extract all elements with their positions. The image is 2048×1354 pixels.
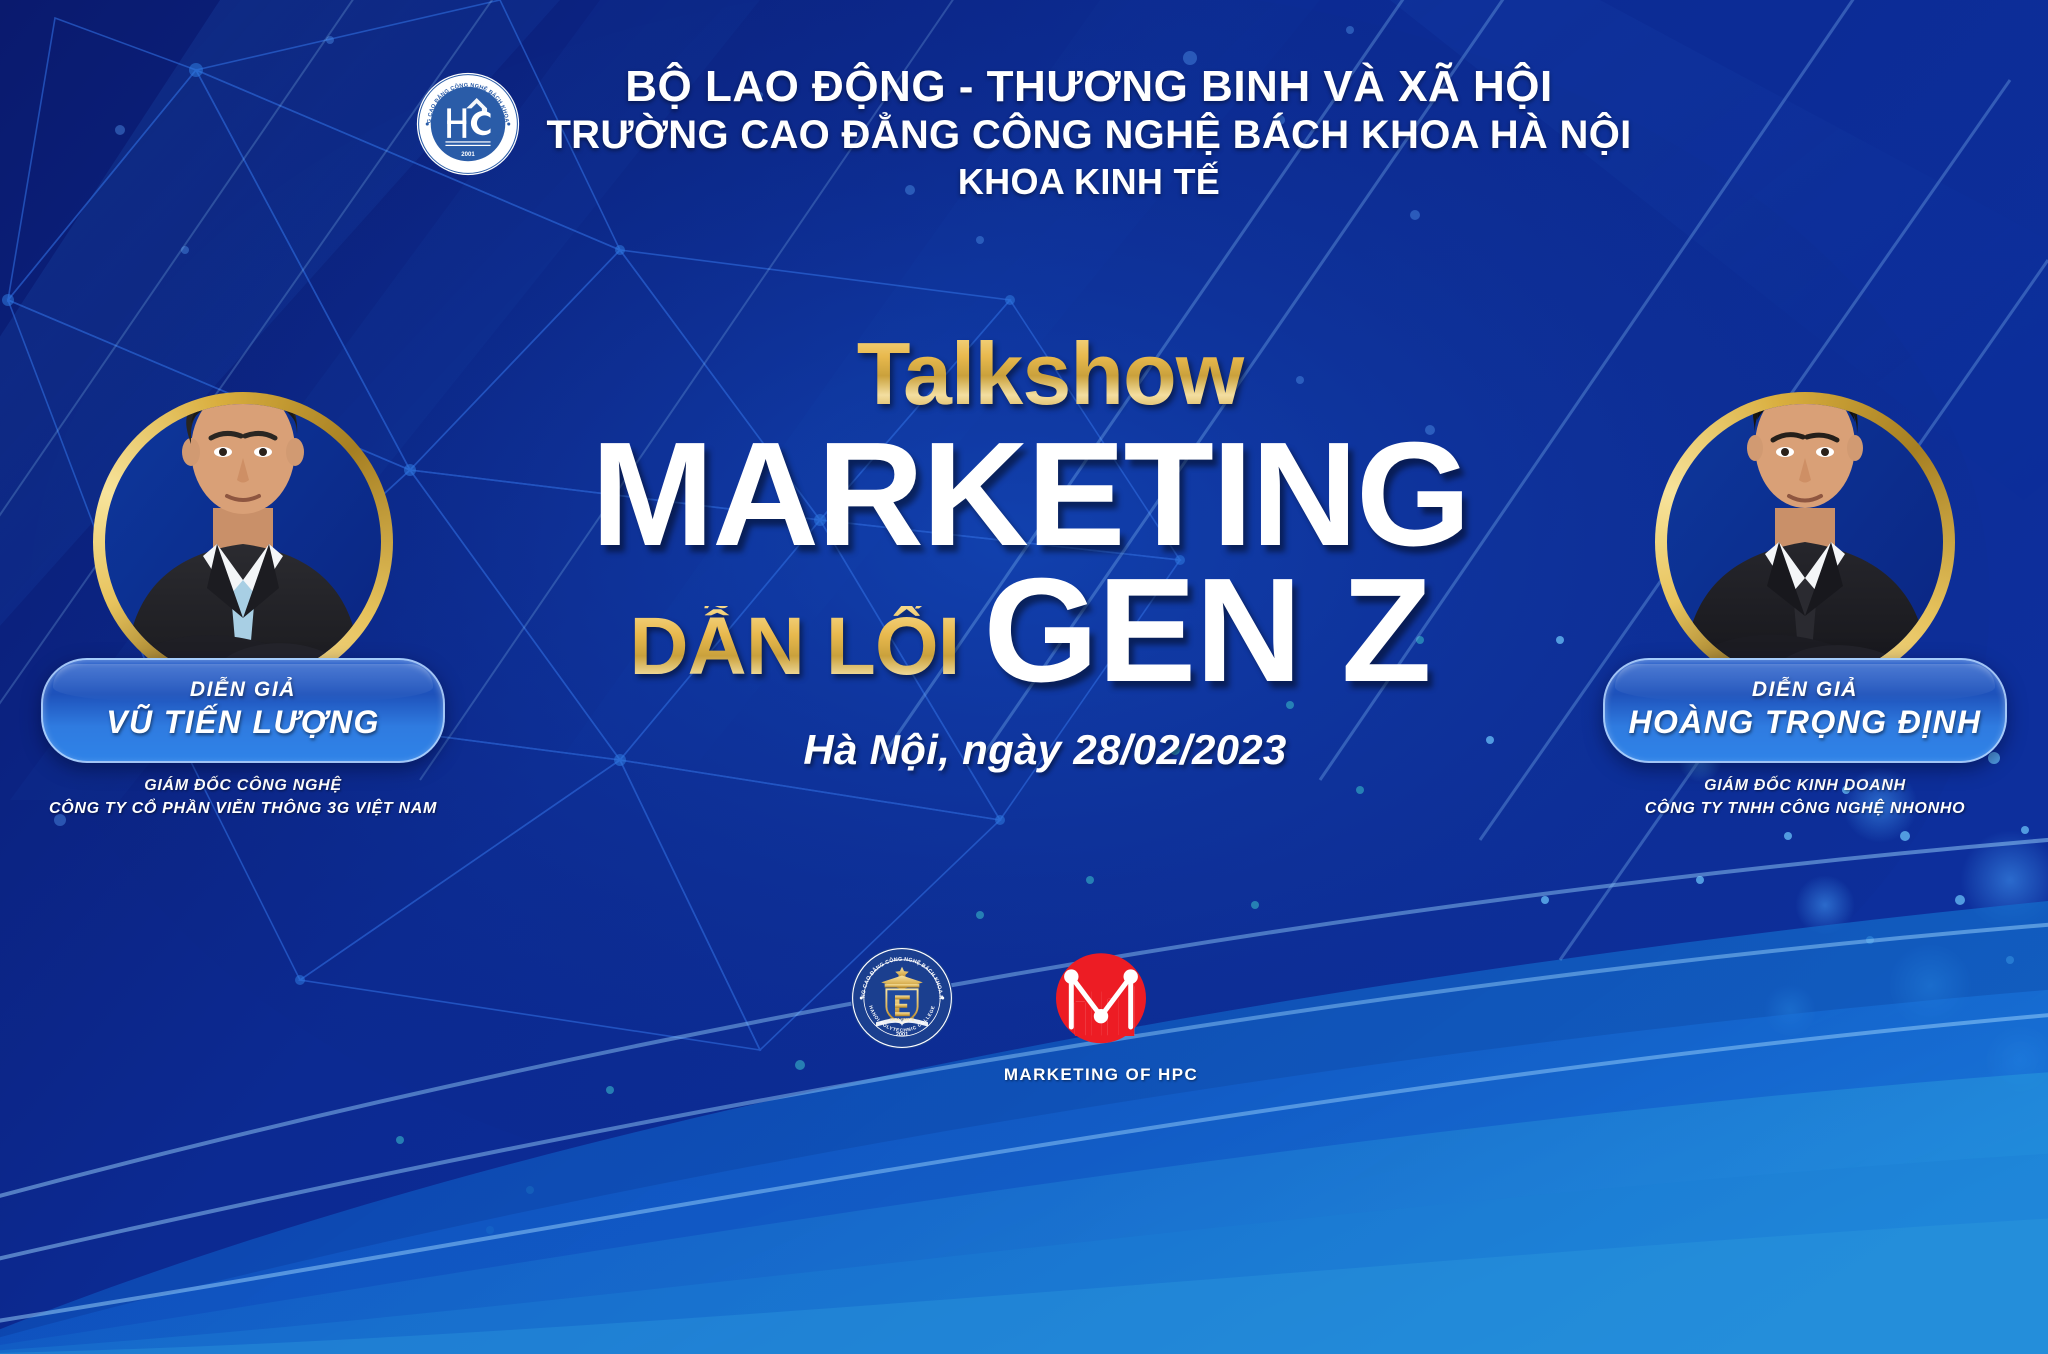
speaker-role-label: DIỄN GIẢ (55, 677, 431, 703)
speaker-role-label: DIỄN GIẢ (1617, 677, 1993, 703)
title-main-line2-white: GEN Z (983, 560, 1430, 702)
faculty-economics-seal-icon: TRƯỜNG CAO ĐẲNG CÔNG NGHỆ BÁCH KHOA HÀ N… (850, 946, 954, 1050)
title-kicker: Talkshow (560, 330, 1540, 418)
speaker-photo-vu-tien-luong (105, 404, 381, 680)
poster-canvas: TRƯỜNG CAO ĐẲNG CÔNG NGHỆ BÁCH KHOA HÀ N… (0, 0, 2048, 1354)
marketing-logo-label: MARKETING OF HPC (1004, 1065, 1198, 1085)
speaker-company: CÔNG TY TNHH CÔNG NGHỆ NHONHO (1590, 798, 2020, 821)
seal-year: 2001 (462, 152, 476, 158)
header-line-college: TRƯỜNG CAO ĐẲNG CÔNG NGHỆ BÁCH KHOA HÀ N… (546, 112, 1631, 159)
speaker-company: CÔNG TY CỔ PHẦN VIỄN THÔNG 3G VIỆT NAM (28, 798, 458, 821)
speaker-portrait-left (93, 392, 393, 692)
event-date: Hà Nội, ngày 28/02/2023 (550, 726, 1540, 774)
speaker-position: GIÁM ĐỐC CÔNG NGHỆ (28, 775, 458, 798)
speaker-portrait-right (1655, 392, 1955, 692)
marketing-of-hpc-logo: MARKETING OF HPC (1004, 946, 1198, 1085)
faculty-seal-center-text: KHOA KINH TẾ (889, 1017, 915, 1022)
speaker-name: HOÀNG TRỌNG ĐỊNH (1617, 703, 1993, 742)
title-main-line2-gold: DẪN LỐI (629, 606, 959, 702)
speaker-position: GIÁM ĐỐC KINH DOANH (1590, 775, 2020, 798)
speaker-card-left: DIỄN GIẢ VŨ TIẾN LƯỢNG GIÁM ĐỐC CÔNG NGH… (28, 392, 458, 821)
speaker-badge-right: DIỄN GIẢ HOÀNG TRỌNG ĐỊNH (1603, 658, 2007, 763)
speaker-badge-left: DIỄN GIẢ VŨ TIẾN LƯỢNG (41, 658, 445, 763)
marketing-chart-icon (1047, 946, 1155, 1054)
title-block: Talkshow MARKETING DẪN LỐI GEN Z Hà Nội,… (520, 330, 1540, 774)
hpc-college-seal-icon: TRƯỜNG CAO ĐẲNG CÔNG NGHỆ BÁCH KHOA HÀ N… (416, 72, 520, 176)
header-line-ministry: BỘ LAO ĐỘNG - THƯƠNG BINH VÀ XÃ HỘI (546, 62, 1631, 112)
footer-logo-row: TRƯỜNG CAO ĐẲNG CÔNG NGHỆ BÁCH KHOA HÀ N… (0, 946, 2048, 1085)
header-block: TRƯỜNG CAO ĐẲNG CÔNG NGHỆ BÁCH KHOA HÀ N… (0, 62, 2048, 206)
title-main-line1: MARKETING (520, 424, 1540, 566)
faculty-seal-year: 2001 (896, 1032, 908, 1038)
speaker-name: VŨ TIẾN LƯỢNG (55, 703, 431, 742)
speaker-photo-hoang-trong-dinh (1667, 404, 1943, 680)
header-line-faculty: KHOA KINH TẾ (546, 159, 1631, 206)
speaker-card-right: DIỄN GIẢ HOÀNG TRỌNG ĐỊNH GIÁM ĐỐC KINH … (1590, 392, 2020, 821)
